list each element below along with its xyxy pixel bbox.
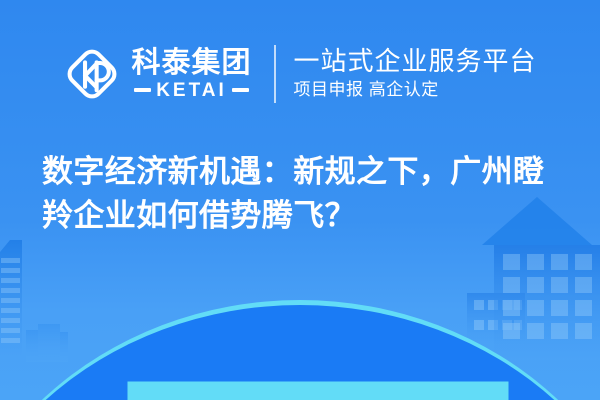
banner-headline: 数字经济新机遇：新规之下，广州瞪羚企业如何借势腾飞？	[42, 150, 562, 238]
brand-name-cn: 科泰集团	[131, 48, 251, 78]
ketai-diamond-kp-monogram-icon	[63, 45, 121, 103]
wordmark-dash-left	[134, 88, 151, 92]
brand-wordmark: 科泰集团 KETAI	[131, 48, 251, 99]
bottom-arc-shape	[0, 300, 600, 400]
brand-name-en: KETAI	[156, 81, 227, 100]
bottom-arc-decoration	[0, 300, 600, 400]
brand-name-en-row: KETAI	[134, 81, 249, 100]
promo-banner: 科泰集团 KETAI 一站式企业服务平台 项目申报 高企认定 数字经济新机遇：新…	[0, 0, 600, 400]
slogan-secondary: 项目申报 高企认定	[294, 79, 537, 101]
header-divider	[274, 45, 276, 103]
banner-header: 科泰集团 KETAI 一站式企业服务平台 项目申报 高企认定	[0, 38, 600, 110]
slogan-primary: 一站式企业服务平台	[294, 47, 537, 77]
brand-logo: 科泰集团 KETAI	[63, 45, 251, 103]
wordmark-dash-right	[232, 88, 249, 92]
slogan-block: 一站式企业服务平台 项目申报 高企认定	[294, 47, 537, 102]
